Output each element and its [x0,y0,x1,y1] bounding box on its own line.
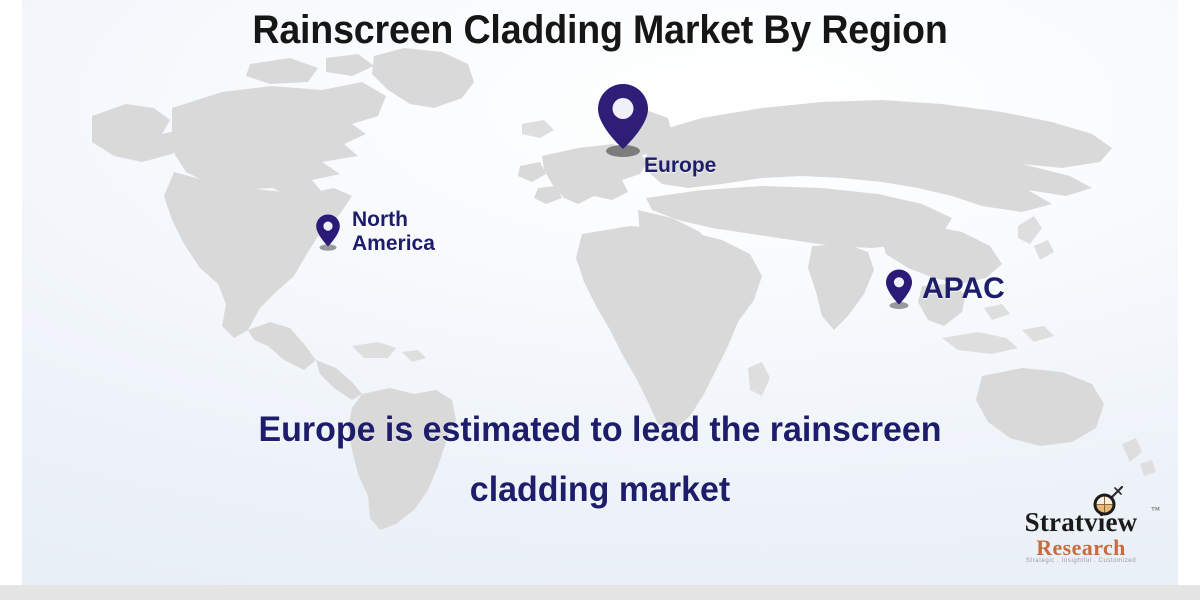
map-marker-north-america[interactable]: North America [314,208,435,255]
map-pin-icon [314,213,342,251]
headline-caption-line-1: Europe is estimated to lead the rainscre… [39,400,1160,460]
map-marker-apac[interactable]: APAC [884,268,1005,310]
bottom-gray-band [0,585,1200,600]
map-marker-label-apac: APAC [922,272,1005,306]
map-marker-europe[interactable]: Europe [594,82,716,178]
map-pin-icon [594,82,652,158]
map-pin-icon [884,268,914,310]
map-marker-label-north-america: North America [352,208,435,255]
logo-wordmark: Stratview [992,507,1170,538]
logo-trademark-symbol: ™ [1151,505,1160,515]
page-title: Rainscreen Cladding Market By Region [57,8,1144,53]
map-marker-label-europe: Europe [644,154,716,178]
stratview-research-logo[interactable]: Stratview ™ Research Strategic . Insight… [992,485,1170,567]
logo-tagline: Strategic . Insightful . Customized [992,558,1170,564]
slide-canvas: Rainscreen Cladding Market By Region Nor… [22,0,1178,585]
rainscreen-cladding-market-infographic: Rainscreen Cladding Market By Region Nor… [0,0,1200,600]
